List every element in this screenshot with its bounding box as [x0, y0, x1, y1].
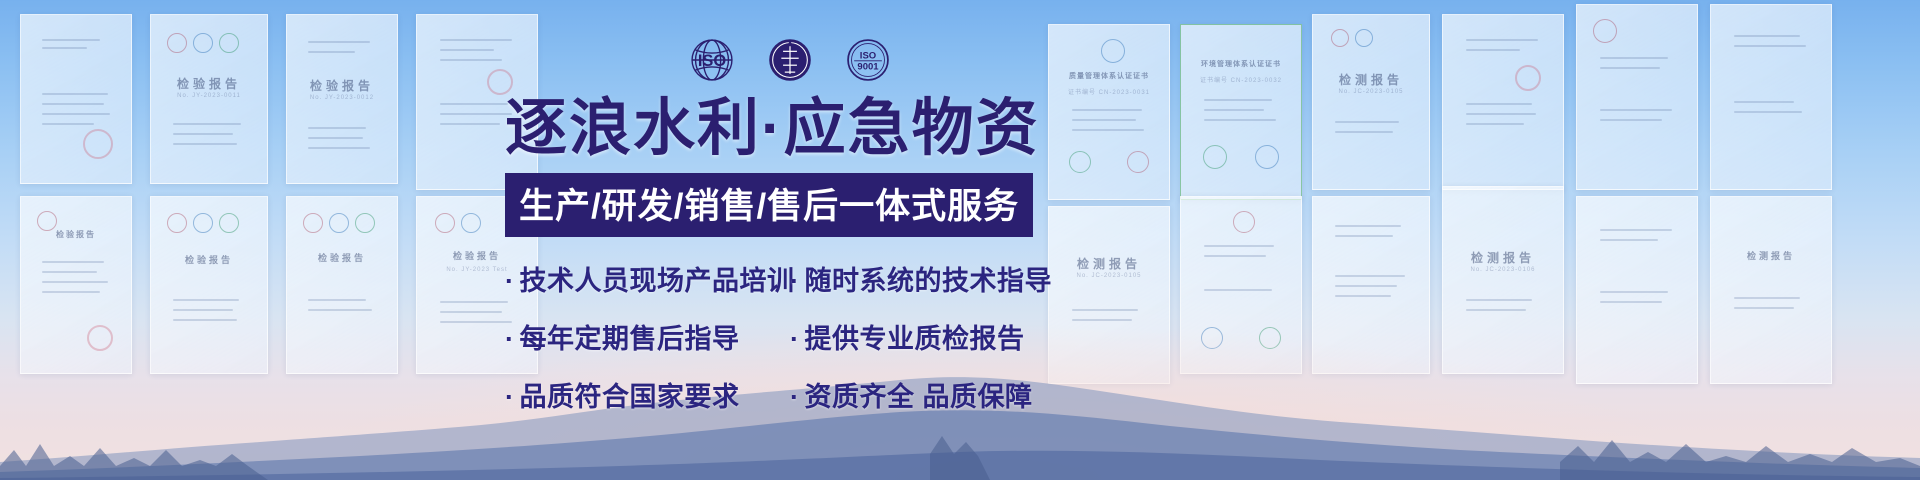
- cert-logo-icon: [167, 213, 187, 233]
- cert-logo-icon: [329, 213, 349, 233]
- bullet-icon: ·: [505, 268, 515, 295]
- iso-badge-label: ISO: [698, 52, 727, 70]
- svg-text:9001: 9001: [857, 62, 879, 73]
- banner-content: 逐浪水利·应急物资 生产/研发/销售/售后一体式服务 · 技术人员现场产品培训 …: [505, 96, 1085, 414]
- page-title: 逐浪水利·应急物资: [505, 96, 1085, 161]
- list-item-label: 提供专业质检报告: [805, 317, 1025, 356]
- bullet-icon: ·: [505, 326, 515, 353]
- bullet-icon: ·: [505, 384, 515, 411]
- cert-logo-icon: [461, 213, 481, 233]
- cert-logo-icon: [1331, 29, 1349, 47]
- iso-globe-badge: ISO: [686, 34, 738, 86]
- iso-9001-badge: ISO 9001: [842, 34, 894, 86]
- feature-list: · 技术人员现场产品培训 · 随时系统的技术指导 · 每年定期售后指导 · 提供…: [505, 259, 1085, 414]
- quality-emblem-badge: [764, 34, 816, 86]
- certificate-card: [20, 14, 132, 184]
- cert-logo-icon: [37, 211, 57, 231]
- certificate-title: 检验报告: [159, 253, 259, 266]
- certificate-subtitle: No. JC-2023-0106: [1451, 267, 1555, 273]
- cert-logo-icon: [1355, 29, 1373, 47]
- svg-text:ISO: ISO: [860, 50, 876, 61]
- list-item: · 每年定期售后指导: [505, 317, 790, 356]
- certificate-seal: [83, 129, 113, 159]
- cert-logo-icon: [1255, 145, 1279, 169]
- certificate-title: 检测报告: [1321, 71, 1421, 88]
- cert-logo-icon: [1593, 19, 1617, 43]
- cert-logo-icon: [303, 213, 323, 233]
- cert-logo-icon: [1203, 145, 1227, 169]
- certificate-title: 检测报告: [1451, 249, 1555, 266]
- tree-line-silhouette: [0, 410, 1920, 480]
- certificate-title: 环境管理体系认证证书: [1189, 59, 1293, 69]
- list-item-label: 每年定期售后指导: [520, 317, 740, 356]
- bullet-icon: ·: [790, 384, 800, 411]
- bullet-icon: ·: [790, 326, 800, 353]
- certificate-subtitle: 证书编号 CN-2023-0031: [1057, 87, 1161, 96]
- subtitle-bar: 生产/研发/销售/售后一体式服务: [505, 173, 1033, 237]
- cert-logo-icon: [219, 33, 239, 53]
- cert-logo-icon: [1233, 211, 1255, 233]
- list-item-label: 品质符合国家要求: [520, 375, 740, 414]
- list-item: · 提供专业质检报告: [790, 317, 1085, 356]
- certificate-card: [1442, 14, 1564, 190]
- certificate-title: 检测报告: [1719, 249, 1823, 262]
- certificate-card: 环境管理体系认证证书 证书编号 CN-2023-0032: [1180, 24, 1302, 200]
- cert-logo-icon: [1101, 39, 1125, 63]
- list-item: · 随时系统的技术指导: [790, 259, 1085, 298]
- certificate-seal: [487, 69, 513, 95]
- certificate-subtitle: No. JC-2023-0105: [1321, 89, 1421, 95]
- certification-badges: ISO ISO 9001: [686, 34, 894, 86]
- certificate-card: 检测报告 No. JC-2023-0105: [1312, 14, 1430, 190]
- cert-logo-icon: [167, 33, 187, 53]
- certificate-card: 检验报告 No. JY-2023-0011: [150, 14, 268, 184]
- certificate-title: 检验报告: [29, 229, 123, 240]
- cert-logo-icon: [219, 213, 239, 233]
- cert-logo-icon: [435, 213, 455, 233]
- list-item-label: 技术人员现场产品培训: [520, 259, 795, 298]
- cert-logo-icon: [193, 213, 213, 233]
- list-item: · 资质齐全 品质保障: [790, 375, 1085, 414]
- certificate-card: 检验报告 No. JY-2023-0012: [286, 14, 398, 184]
- certificate-subtitle: 证书编号 CN-2023-0032: [1189, 75, 1293, 84]
- certificate-seal: [1515, 65, 1541, 91]
- cert-logo-icon: [1127, 151, 1149, 173]
- cert-logo-icon: [355, 213, 375, 233]
- certificate-card: [1710, 4, 1832, 190]
- certificate-title: 检验报告: [295, 251, 389, 264]
- list-item: · 品质符合国家要求: [505, 375, 790, 414]
- list-item-label: 随时系统的技术指导: [805, 259, 1053, 298]
- certificate-subtitle: No. JY-2023-0012: [295, 95, 389, 101]
- list-item-label: 资质齐全 品质保障: [805, 375, 1033, 414]
- certificate-title: 质量管理体系认证证书: [1057, 71, 1161, 81]
- list-item: · 技术人员现场产品培训: [505, 259, 790, 298]
- bullet-icon: ·: [790, 268, 800, 295]
- certificate-title: 检验报告: [295, 77, 389, 94]
- certificate-title: 检验报告: [159, 75, 259, 92]
- cert-logo-icon: [193, 33, 213, 53]
- certificate-card: [1576, 4, 1698, 190]
- promo-banner: 检验报告 No. JY-2023-0011 检验报告 No. JY-2023-0…: [0, 0, 1920, 480]
- certificate-subtitle: No. JY-2023-0011: [159, 93, 259, 99]
